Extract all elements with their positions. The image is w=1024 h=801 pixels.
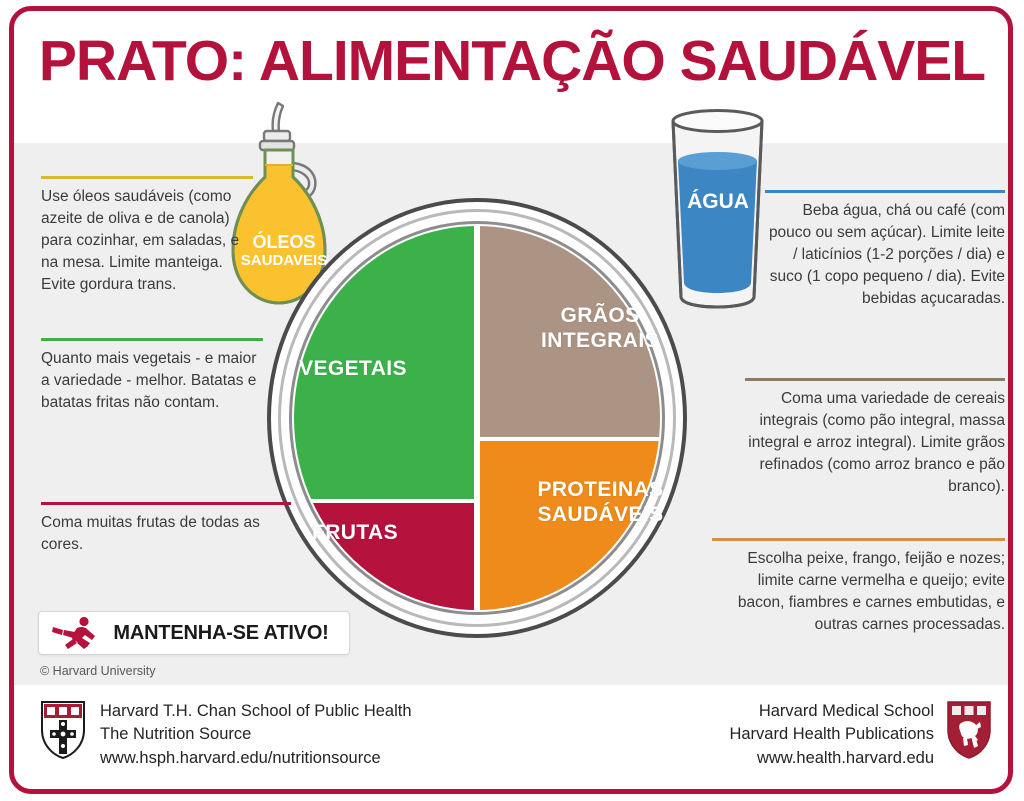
plate-label-proteins-line1: PROTEINAS xyxy=(537,478,663,501)
callout-grains: Coma uma variedade de cereais integrais … xyxy=(745,378,1005,498)
plate-label-proteins: PROTEINAS SAUDÁVEIS xyxy=(508,478,693,528)
footer-left-line2: The Nutrition Source xyxy=(100,723,412,746)
plate-section-fruits xyxy=(294,503,474,610)
stay-active-label: MANTENHA-SE ATIVO! xyxy=(105,622,349,645)
stay-active-button[interactable]: MANTENHA-SE ATIVO! xyxy=(38,611,350,655)
plate-label-grains-line2: INTEGRAIS xyxy=(541,329,659,352)
callout-rule-grains xyxy=(745,378,1005,381)
running-person-icon xyxy=(51,616,105,650)
footer-right-line1: Harvard Medical School xyxy=(729,700,934,723)
harvard-medical-shield-icon xyxy=(946,700,992,760)
footer-left-line1: Harvard T.H. Chan School of Public Healt… xyxy=(100,700,412,723)
plate-label-grains-line1: GRÃOS xyxy=(560,304,639,327)
footer-right-text: Harvard Medical School Harvard Health Pu… xyxy=(729,700,934,770)
callout-water: Beba água, chá ou café (com pouco ou sem… xyxy=(765,190,1005,310)
copyright-text: © Harvard University xyxy=(40,664,156,678)
footer-left: Harvard T.H. Chan School of Public Healt… xyxy=(40,700,412,770)
healthy-eating-plate xyxy=(267,198,687,638)
callout-text-fruits: Coma muitas frutas de todas as cores. xyxy=(41,512,291,556)
callout-rule-vegetables xyxy=(41,338,263,341)
plate-food-area xyxy=(294,226,660,610)
footer-left-text: Harvard T.H. Chan School of Public Healt… xyxy=(100,700,412,770)
footer-left-line3[interactable]: www.hsph.harvard.edu/nutritionsource xyxy=(100,747,412,770)
callout-text-grains: Coma uma variedade de cereais integrais … xyxy=(745,388,1005,498)
callout-rule-oils xyxy=(41,176,253,179)
callout-proteins: Escolha peixe, frango, feijão e nozes; l… xyxy=(712,538,1005,636)
callout-oils: Use óleos saudáveis (como azeite de oliv… xyxy=(41,176,253,296)
harvard-chan-shield-icon xyxy=(40,700,86,760)
callout-text-proteins: Escolha peixe, frango, feijão e nozes; l… xyxy=(712,548,1005,636)
plate-label-proteins-line2: SAUDÁVEIS xyxy=(537,503,663,526)
callout-text-water: Beba água, chá ou café (com pouco ou sem… xyxy=(765,200,1005,310)
callout-rule-fruits xyxy=(41,502,291,505)
callout-text-oils: Use óleos saudáveis (como azeite de oliv… xyxy=(41,186,253,296)
footer-right-line2: Harvard Health Publications xyxy=(729,723,934,746)
healthy-eating-plate-poster: PRATO: ALIMENTAÇÃO SAUDÁVEL ÓLEOS SAUDAV… xyxy=(0,0,1024,801)
plate-label-fruits: FRUTAS xyxy=(290,521,420,546)
callout-vegetables: Quanto mais vegetais - e maior a varieda… xyxy=(41,338,263,414)
footer-right-line3[interactable]: www.health.harvard.edu xyxy=(729,747,934,770)
page-title: PRATO: ALIMENTAÇÃO SAUDÁVEL xyxy=(0,28,1024,94)
footer-right: Harvard Medical School Harvard Health Pu… xyxy=(729,700,992,770)
plate-label-grains: GRÃOS INTEGRAIS xyxy=(515,304,685,354)
plate-label-vegetables: VEGETAIS xyxy=(288,357,418,382)
callout-rule-water xyxy=(765,190,1005,193)
callout-fruits: Coma muitas frutas de todas as cores. xyxy=(41,502,291,556)
callout-rule-proteins xyxy=(712,538,1005,541)
callout-text-vegetables: Quanto mais vegetais - e maior a varieda… xyxy=(41,348,263,414)
